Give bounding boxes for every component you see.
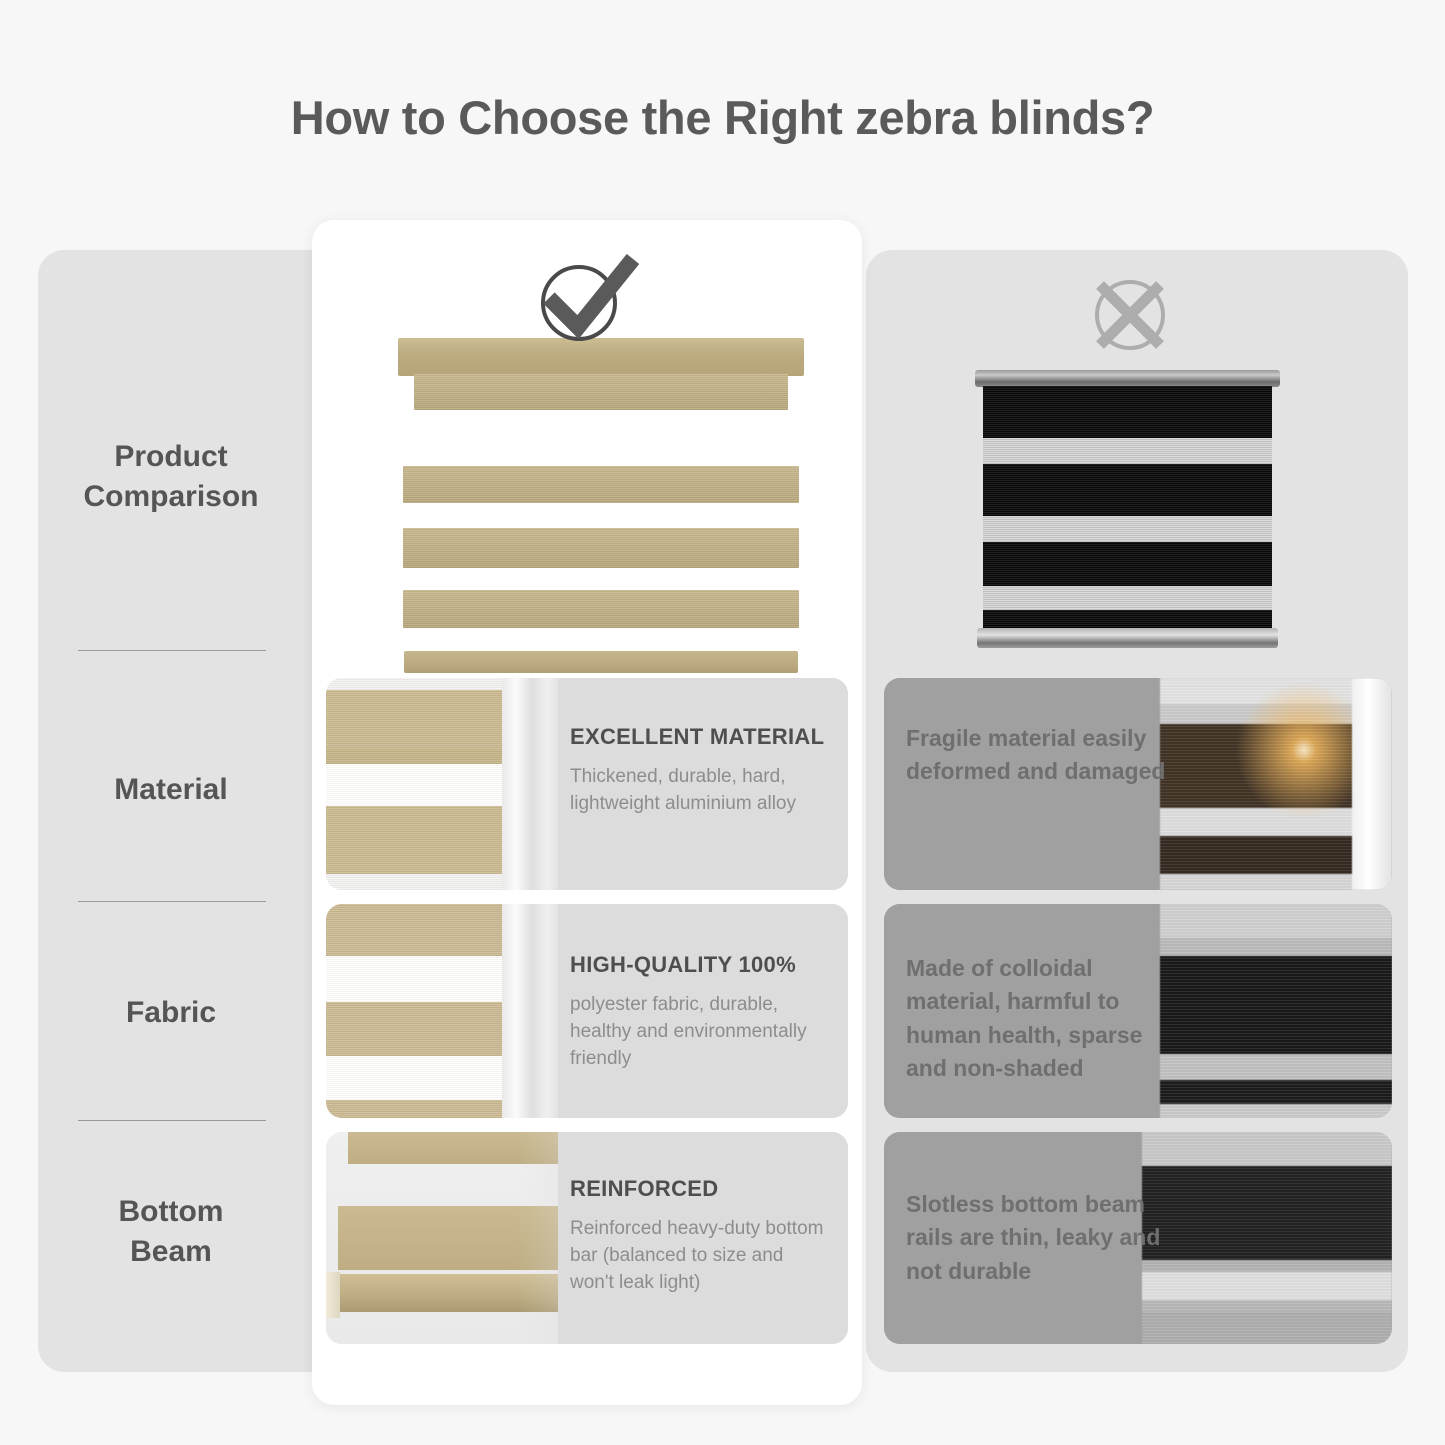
blind-slat <box>403 528 799 568</box>
feature-body: Reinforced heavy-duty bottom bar (balanc… <box>570 1216 832 1297</box>
blind-slat <box>414 374 788 410</box>
feature-text-block: REINFORCED Reinforced heavy-duty bottom … <box>570 1176 832 1297</box>
window-frame <box>1352 678 1392 890</box>
feature-body: Thickened, durable, hard, lightweight al… <box>570 764 832 818</box>
feature-body: polyester fabric, durable, healthy and e… <box>570 992 832 1073</box>
feature-heading: EXCELLENT MATERIAL <box>570 724 832 750</box>
blind-bottom-bar <box>404 651 798 673</box>
feature-text-block: EXCELLENT MATERIAL Thickened, durable, h… <box>570 724 832 818</box>
page-title: How to Choose the Right zebra blinds? <box>0 90 1445 145</box>
feature-text-block: Slotless bottom beam rails are thin, lea… <box>906 1188 1176 1288</box>
feature-card-material-good: EXCELLENT MATERIAL Thickened, durable, h… <box>326 678 848 890</box>
blind-slat <box>403 590 799 628</box>
feature-text-block: Fragile material easily deformed and dam… <box>906 722 1176 789</box>
feature-text-block: HIGH-QUALITY 100% polyester fabric, dura… <box>570 952 832 1073</box>
row-label-line2: Comparison <box>56 477 286 517</box>
row-label-line1: Material <box>56 770 286 810</box>
row-divider-1 <box>78 650 266 651</box>
feature-text-block: Made of colloidal material, harmful to h… <box>906 952 1176 1085</box>
row-label-bottom-beam: Bottom Beam <box>56 1192 286 1272</box>
row-label-product-comparison: Product Comparison <box>56 437 286 517</box>
blind-bottom-bar <box>977 628 1278 648</box>
feature-card-fabric-good: HIGH-QUALITY 100% polyester fabric, dura… <box>326 904 848 1118</box>
row-divider-2 <box>78 901 266 902</box>
feature-heading: Made of colloidal material, harmful to h… <box>906 952 1176 1085</box>
feature-card-material-bad: Fragile material easily deformed and dam… <box>884 678 1392 890</box>
black-zebra-blind-photo <box>975 370 1280 650</box>
cross-circle-icon <box>1085 270 1175 360</box>
row-label-line2: Beam <box>56 1232 286 1272</box>
blind-headrail <box>975 370 1280 387</box>
row-label-line1: Product <box>56 437 286 477</box>
blind-slat <box>403 466 799 503</box>
check-circle-icon <box>533 253 643 345</box>
feature-heading: Fragile material easily deformed and dam… <box>906 722 1176 789</box>
feature-heading: Slotless bottom beam rails are thin, lea… <box>906 1188 1176 1288</box>
feature-heading: REINFORCED <box>570 1176 832 1202</box>
blind-fabric <box>983 386 1272 629</box>
feature-card-bottom-beam-bad: Slotless bottom beam rails are thin, lea… <box>884 1132 1392 1344</box>
sun-leaking-through-blind <box>1160 678 1392 890</box>
row-label-line1: Bottom <box>56 1192 286 1232</box>
thin-bottom-rail-closeup <box>1142 1132 1392 1344</box>
black-blind-fabric-closeup <box>1160 904 1392 1118</box>
row-label-fabric: Fabric <box>56 993 286 1033</box>
feature-card-fabric-bad: Made of colloidal material, harmful to h… <box>884 904 1392 1118</box>
feature-heading: HIGH-QUALITY 100% <box>570 952 832 978</box>
row-divider-3 <box>78 1120 266 1121</box>
feature-card-bottom-beam-good: REINFORCED Reinforced heavy-duty bottom … <box>326 1132 848 1344</box>
tan-zebra-blind-photo <box>398 338 804 663</box>
bottom-bar-end-cap <box>326 1272 340 1318</box>
row-label-material: Material <box>56 770 286 810</box>
row-label-line1: Fabric <box>56 993 286 1033</box>
